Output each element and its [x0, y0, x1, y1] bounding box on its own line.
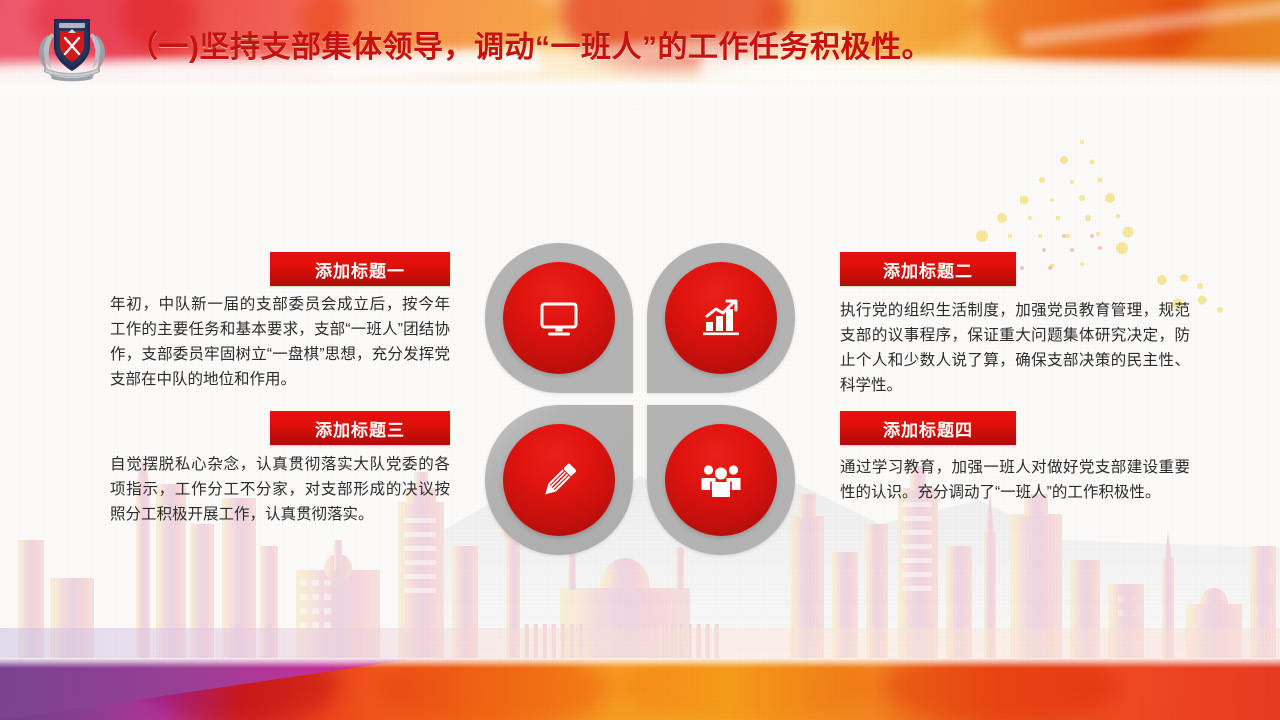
bar-chart-growth-icon [697, 294, 745, 342]
petal-disc-bottom-right[interactable] [665, 424, 777, 536]
section-badge-1[interactable]: 添加标题一 [270, 252, 450, 286]
section-badge-2[interactable]: 添加标题二 [840, 252, 1016, 286]
fire-rescue-emblem-icon [28, 9, 116, 83]
footer-watercolor-strip [0, 658, 1280, 720]
pencil-icon [535, 456, 583, 504]
page-title: （一)坚持支部集体领导，调动“一班人”的工作任务积极性。 [128, 0, 932, 88]
petal-disc-bottom-left[interactable] [503, 424, 615, 536]
petal-diagram [485, 243, 795, 555]
section-badge-4[interactable]: 添加标题四 [840, 411, 1016, 445]
footer-top-fade [0, 658, 1280, 668]
section-text-2: 执行党的组织生活制度，加强党员教育管理，规范支部的议事程序，保证重大问题集体研究… [840, 298, 1190, 398]
section-text-4: 通过学习教育，加强一班人对做好党支部建设重要性的认识。充分调动了“一班人”的工作… [840, 455, 1190, 505]
footer-pale-band [0, 628, 1280, 658]
people-group-icon [697, 456, 745, 504]
petal-disc-top-left[interactable] [503, 262, 615, 374]
section-text-1: 年初，中队新一届的支部委员会成立后，按今年工作的主要任务和基本要求，支部“一班人… [110, 292, 450, 392]
monitor-icon [535, 294, 583, 342]
slide-canvas: （一)坚持支部集体领导，调动“一班人”的工作任务积极性。 [0, 0, 1280, 720]
petal-disc-top-right[interactable] [665, 262, 777, 374]
section-badge-3[interactable]: 添加标题三 [270, 411, 450, 445]
section-text-3: 自觉摆脱私心杂念，认真贯彻落实大队党委的各项指示，工作分工不分家，对支部形成的决… [110, 452, 450, 527]
